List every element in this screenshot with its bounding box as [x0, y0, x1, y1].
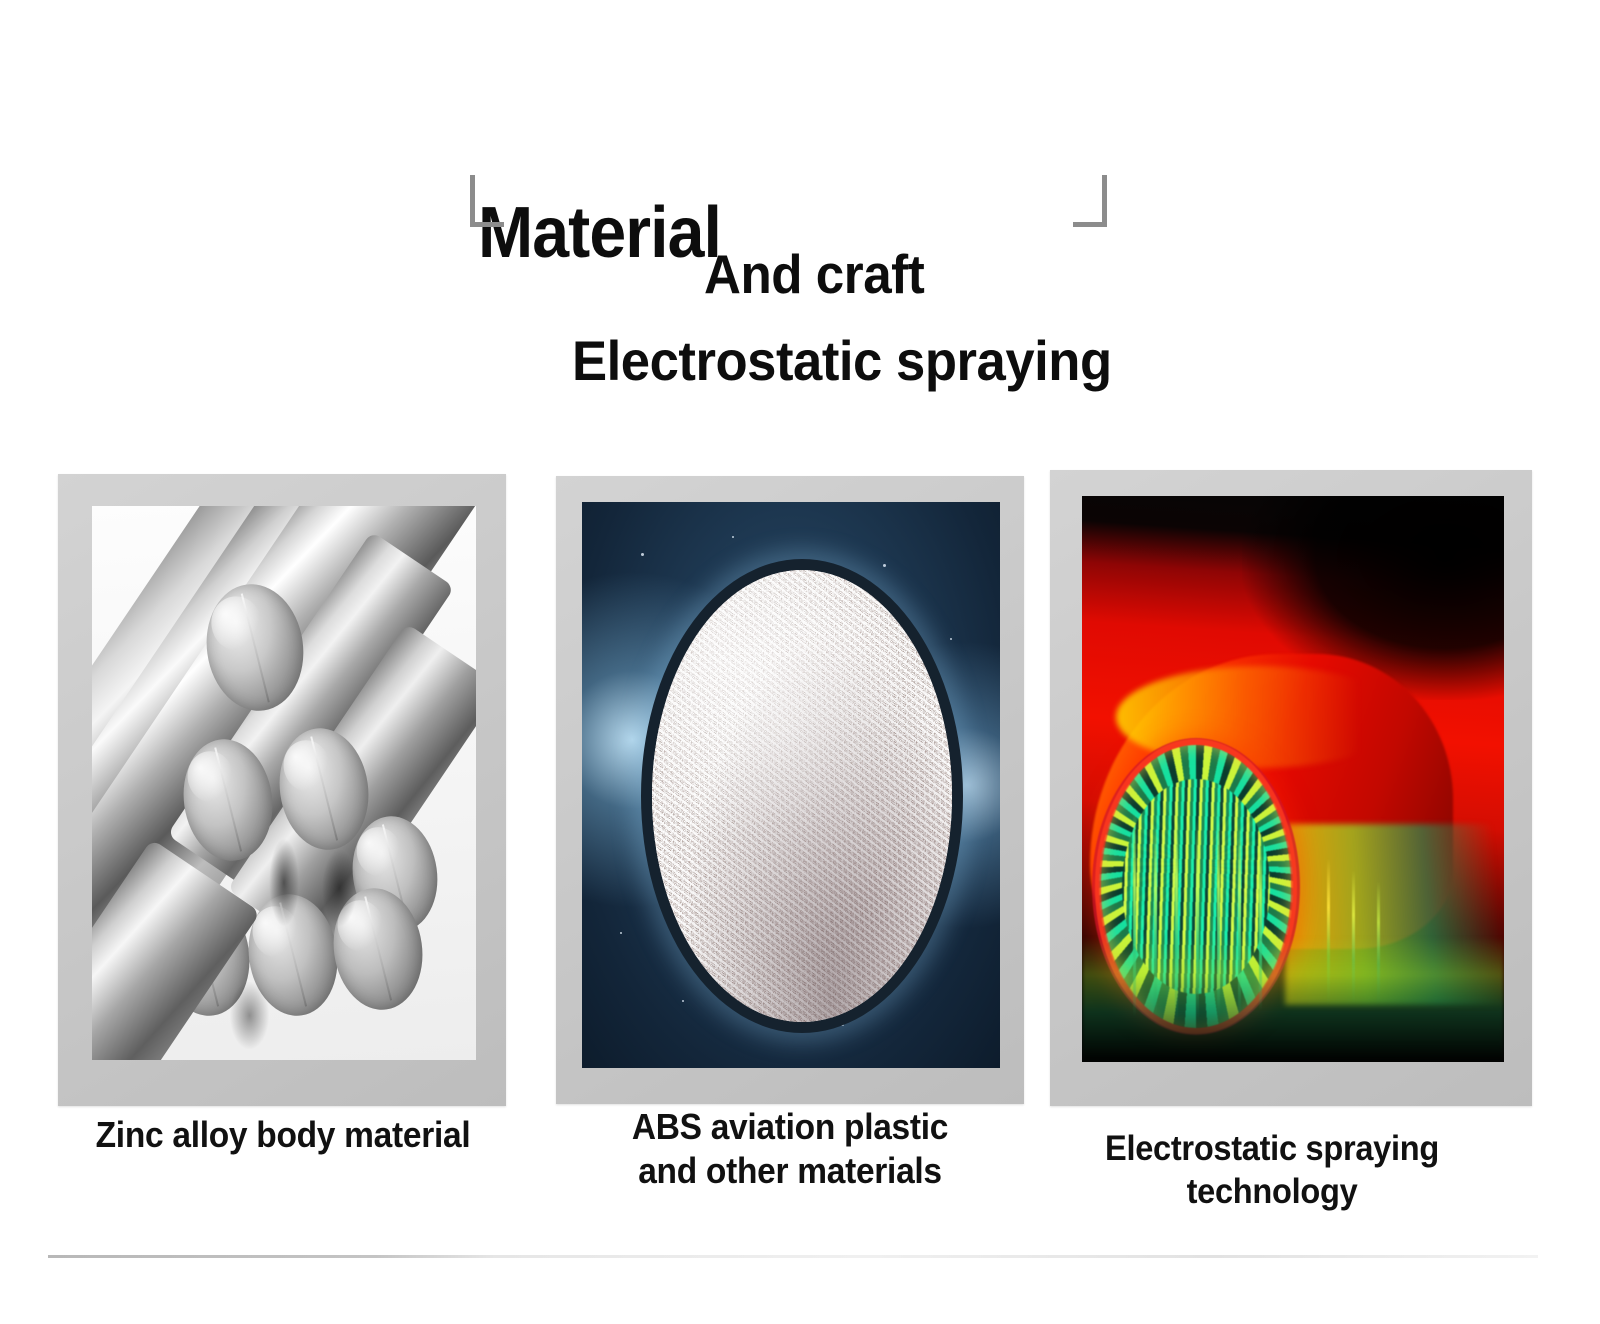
abs-plastic-pellets-oval-photo: [582, 502, 1000, 1068]
zinc-alloy-round-bars-photo: [92, 506, 476, 1060]
caption-line-2: and other materials: [576, 1149, 1004, 1193]
caption-electrostatic-spraying: Electrostatic spraying technology: [1021, 1128, 1523, 1213]
photo-inner: [1082, 496, 1504, 1062]
electrostatic-spraying-thermal-car-photo: [1082, 496, 1504, 1062]
card-zinc-alloy: [58, 474, 506, 1106]
card-electrostatic-spraying: [1050, 470, 1532, 1106]
photo-inner: [92, 506, 476, 1060]
caption-abs-plastic: ABS aviation plastic and other materials: [576, 1105, 1004, 1193]
card-abs-plastic: [556, 476, 1024, 1104]
pellet-oval: [641, 559, 964, 1034]
photo-inner: [582, 502, 1000, 1068]
caption-zinc-alloy: Zinc alloy body material: [64, 1113, 501, 1157]
bottom-divider: [48, 1255, 1538, 1258]
caption-line-1: ABS aviation plastic: [576, 1105, 1004, 1149]
